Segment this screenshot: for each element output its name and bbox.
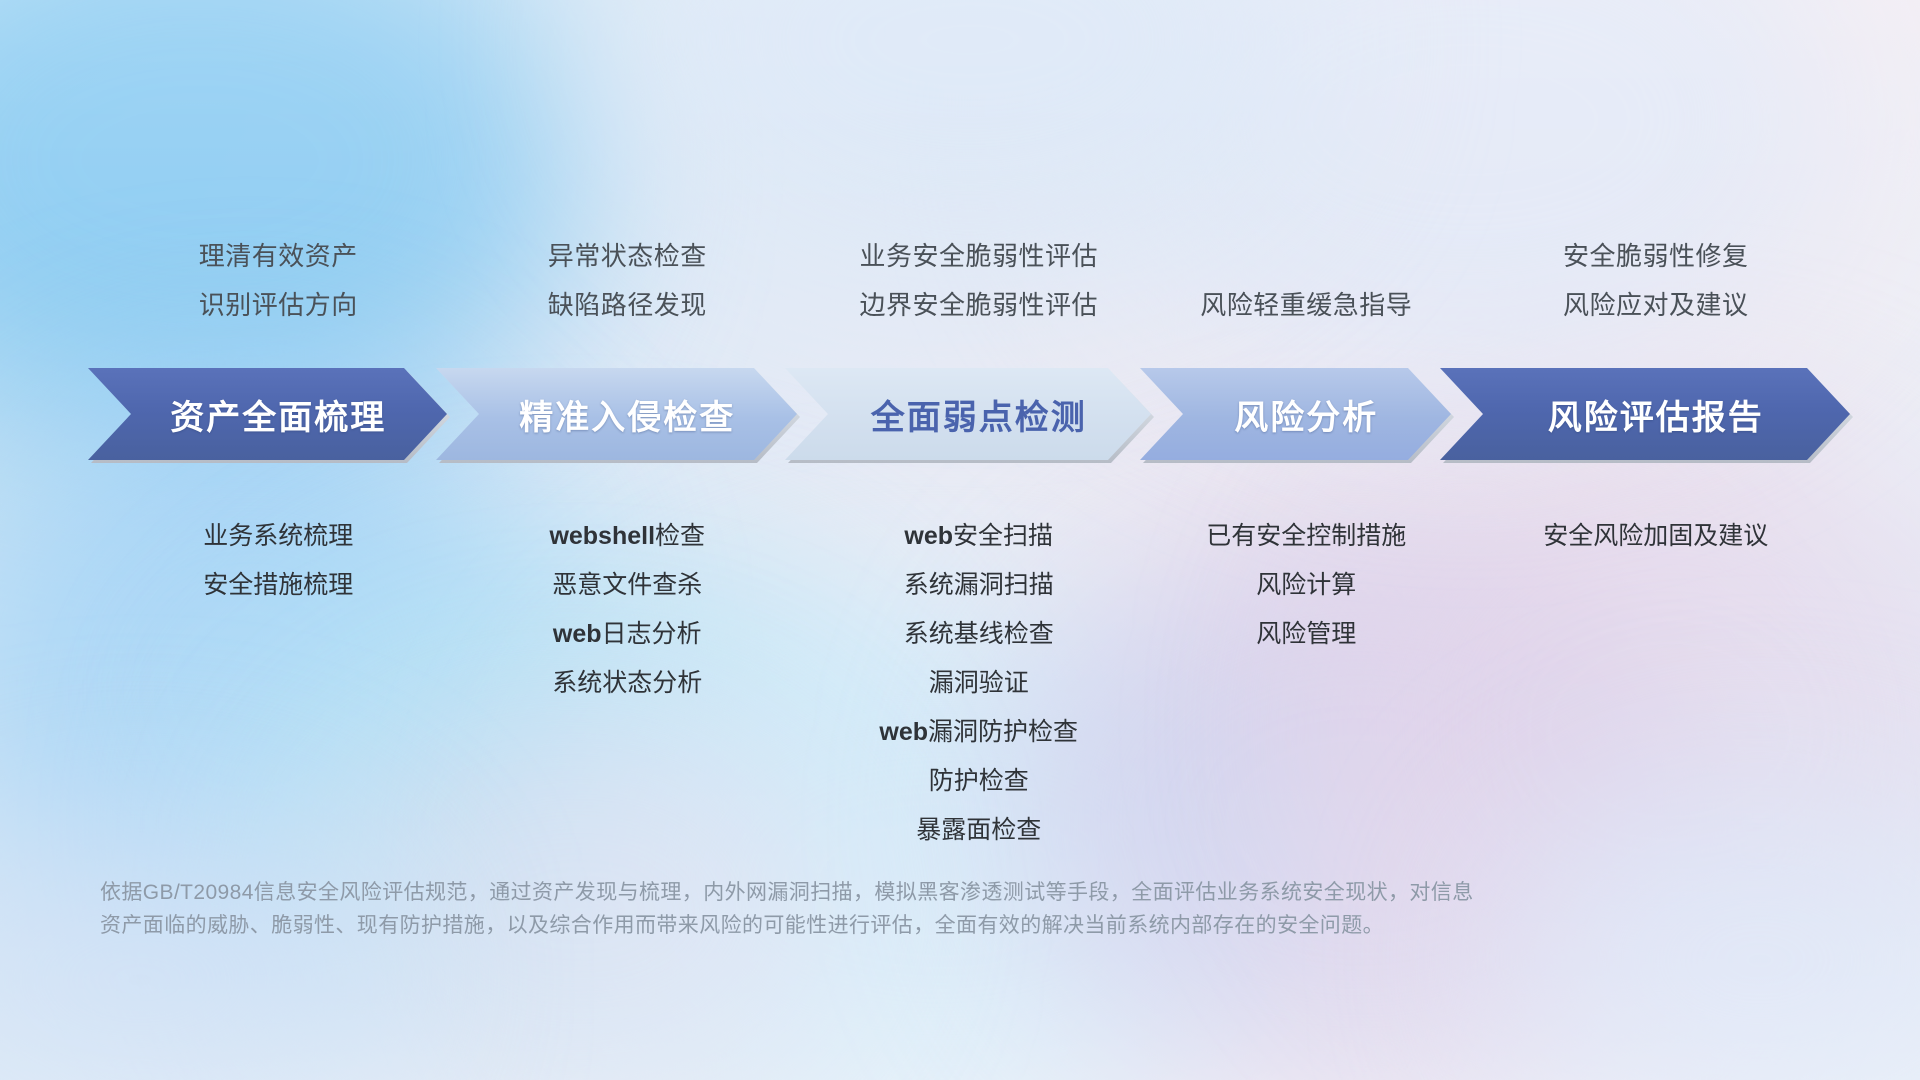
process-stage-weakness-detection[interactable]: 全面弱点检测 [785, 368, 1151, 460]
process-stage-asset-review[interactable]: 资产全面梳理 [88, 368, 447, 460]
stage-item: 防护检查 [759, 757, 1199, 806]
process-stage-risk-analysis[interactable]: 风险分析 [1140, 368, 1451, 460]
footer-line-1: 依据GB/T20984信息安全风险评估规范，通过资产发现与梳理，内外网漏洞扫描，… [100, 876, 1660, 909]
stage-items-risk-report: 安全风险加固及建议 [1436, 512, 1876, 561]
footer-line-2: 资产面临的威胁、脆弱性、现有防护措施，以及综合作用而带来风险的可能性进行评估，全… [100, 909, 1660, 942]
stage-item: 风险计算 [1086, 561, 1526, 610]
stage-title: 资产全面梳理 [170, 390, 386, 439]
top-labels-risk-report: 安全脆弱性修复风险应对及建议 [1436, 232, 1876, 330]
stage-item: 漏洞验证 [759, 659, 1199, 708]
stage-item: web漏洞防护检查 [759, 708, 1199, 757]
stage-title: 风险评估报告 [1548, 390, 1764, 439]
stage-item: 安全风险加固及建议 [1436, 512, 1876, 561]
process-chevron-band: 资产全面梳理精准入侵检查全面弱点检测风险分析风险评估报告 [88, 368, 1850, 460]
top-label: 风险应对及建议 [1436, 281, 1876, 330]
stage-title: 风险分析 [1234, 390, 1378, 439]
process-stage-risk-report[interactable]: 风险评估报告 [1440, 368, 1850, 460]
footer-description: 依据GB/T20984信息安全风险评估规范，通过资产发现与梳理，内外网漏洞扫描，… [100, 876, 1660, 942]
slide-content: 理清有效资产识别评估方向异常状态检查缺陷路径发现业务安全脆弱性评估边界安全脆弱性… [0, 0, 1920, 1080]
stage-item: 暴露面检查 [759, 806, 1199, 855]
top-label: 业务安全脆弱性评估 [759, 232, 1199, 281]
stage-title: 全面弱点检测 [871, 390, 1087, 439]
process-stage-intrusion-check[interactable]: 精准入侵检查 [436, 368, 797, 460]
stage-title: 精准入侵检查 [519, 390, 735, 439]
stage-item: 风险管理 [1086, 610, 1526, 659]
top-label: 安全脆弱性修复 [1436, 232, 1876, 281]
